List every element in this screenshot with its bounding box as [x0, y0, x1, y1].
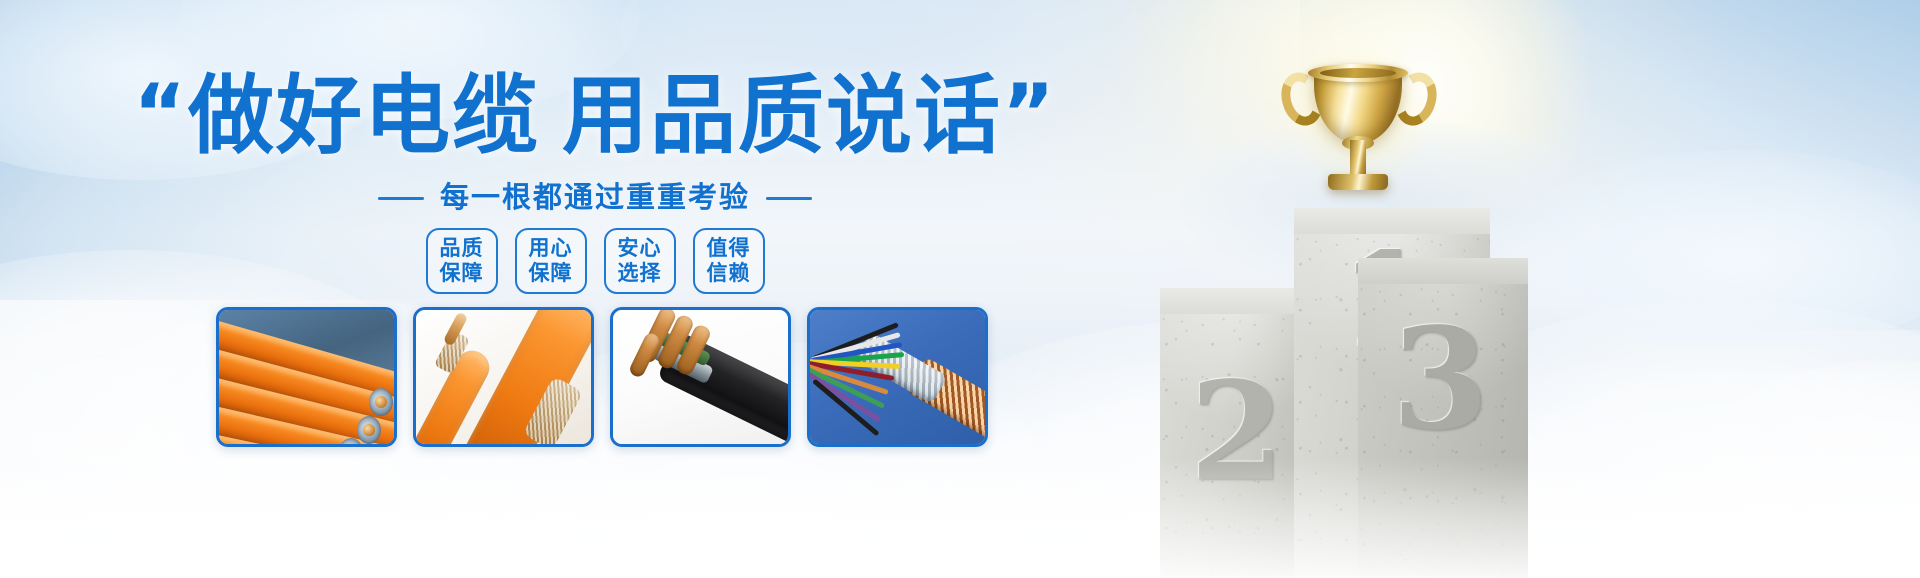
product-thumbnail-orange-cable-stripped[interactable]: orange-cable-stripped	[413, 307, 594, 447]
badge-line-1: 用心	[529, 236, 573, 261]
open-quote-mark: “	[133, 67, 188, 160]
podium-top-face	[1358, 258, 1528, 284]
subtitle-rule-right	[766, 197, 812, 200]
feature-badge-care[interactable]: 用心 保障	[515, 228, 587, 294]
banner-subtitle: 每一根都通过重重考验	[440, 181, 750, 215]
trophy-podium-stage: 1 2 3	[1190, 0, 1920, 578]
cable-end-face	[357, 416, 381, 444]
banner-headline: “做好电缆用品质说话”	[0, 66, 1190, 164]
feature-badge-trust[interactable]: 值得 信赖	[693, 228, 765, 294]
subtitle-rule-left	[378, 197, 424, 200]
product-thumbnail-black-armoured-cable[interactable]: black-armoured-cable	[610, 307, 791, 447]
podium-block-third: 3	[1358, 258, 1528, 578]
headline-part-2: 用品质说话	[562, 68, 1002, 164]
badge-line-1: 品质	[440, 236, 484, 261]
podium-number-second: 2	[1190, 364, 1285, 500]
product-thumbnail-shielded-multicore-cable[interactable]: shielded-multicore-cable	[807, 307, 988, 447]
banner-subtitle-row: 每一根都通过重重考验	[0, 181, 1190, 215]
feature-badge-confidence[interactable]: 安心 选择	[604, 228, 676, 294]
feature-badge-quality[interactable]: 品质 保障	[426, 228, 498, 294]
product-thumbnail-orange-cable-bundle[interactable]: orange-cable-bundle	[216, 307, 397, 447]
feature-badge-row: 品质 保障 用心 保障 安心 选择 值得 信赖	[0, 228, 1190, 294]
badge-line-2: 保障	[440, 261, 484, 286]
trophy-rim	[1308, 64, 1408, 82]
badge-line-2: 选择	[618, 261, 662, 286]
product-thumbnail-row: orange-cable-bundle orange-cable-strippe…	[216, 307, 988, 447]
badge-line-2: 保障	[529, 261, 573, 286]
podium-block-second: 2	[1160, 288, 1310, 578]
trophy-stem	[1350, 140, 1366, 178]
badge-line-2: 信赖	[707, 261, 751, 286]
cable-end-face	[369, 388, 393, 416]
badge-line-1: 安心	[618, 236, 662, 261]
badge-line-1: 值得	[707, 236, 751, 261]
close-quote-mark: ”	[1002, 67, 1057, 160]
headline-part-1: 做好电缆	[188, 68, 540, 164]
podium-number-third: 3	[1392, 310, 1489, 450]
trophy-icon	[1280, 48, 1440, 208]
hero-banner: 1 2 3 “做好电缆用品质说	[0, 0, 1920, 578]
banner-copy: “做好电缆用品质说话” 每一根都通过重重考验 品质 保障 用心 保障 安心 选择…	[0, 0, 1200, 330]
trophy-base	[1328, 174, 1388, 190]
